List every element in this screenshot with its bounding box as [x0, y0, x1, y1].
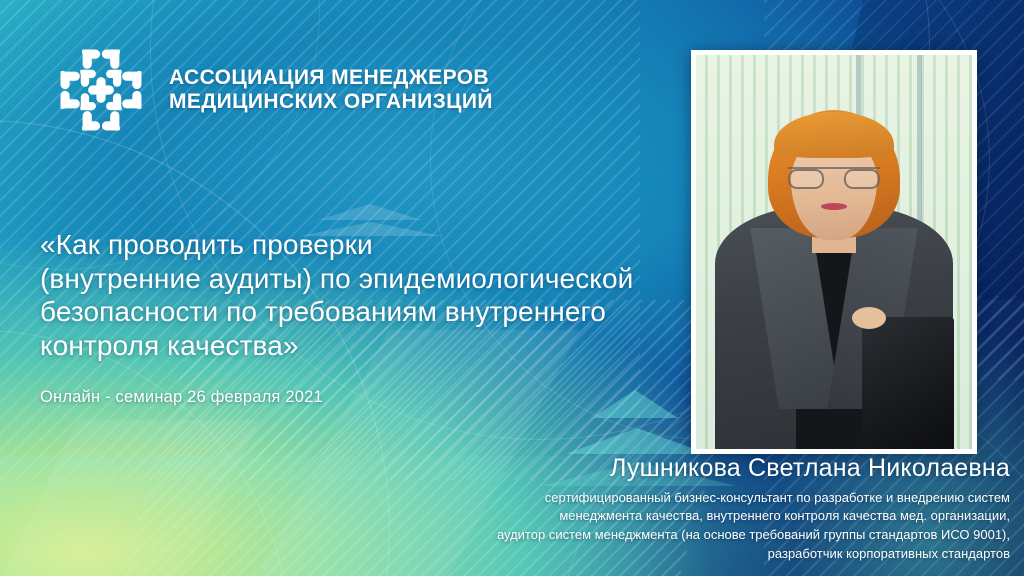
portrait-fringe [774, 112, 894, 158]
organization-name: АССОЦИАЦИЯ МЕНЕДЖЕРОВ МЕДИЦИНСКИХ ОРГАНИ… [169, 66, 493, 115]
portrait-glasses [788, 167, 880, 187]
speaker-portrait-image [696, 55, 972, 449]
brand-header: АССОЦИАЦИЯ МЕНЕДЖЕРОВ МЕДИЦИНСКИХ ОРГАНИ… [55, 44, 493, 136]
slide-title: «Как проводить проверки (внутренние ауди… [40, 228, 720, 362]
association-grid-logo-icon [55, 44, 147, 136]
title-block: «Как проводить проверки (внутренние ауди… [40, 228, 720, 407]
speaker-caption: Лушникова Светлана Николаевна сертифицир… [270, 455, 1010, 563]
slide-subtitle: Онлайн - семинар 26 февраля 2021 [40, 388, 720, 407]
chevron-decor-upper-1 [318, 204, 422, 220]
speaker-credentials: сертифицированный бизнес-консультант по … [270, 489, 1010, 564]
chevron-accent-2 [566, 428, 708, 454]
speaker-photo-frame [691, 50, 977, 454]
portrait-hand [852, 307, 886, 329]
speaker-name: Лушникова Светлана Николаевна [270, 455, 1010, 483]
portrait-folder [862, 317, 954, 449]
portrait-mouth [821, 203, 847, 210]
presentation-slide: АССОЦИАЦИЯ МЕНЕДЖЕРОВ МЕДИЦИНСКИХ ОРГАНИ… [0, 0, 1024, 576]
wedge-bottom-left-decor [0, 420, 260, 576]
